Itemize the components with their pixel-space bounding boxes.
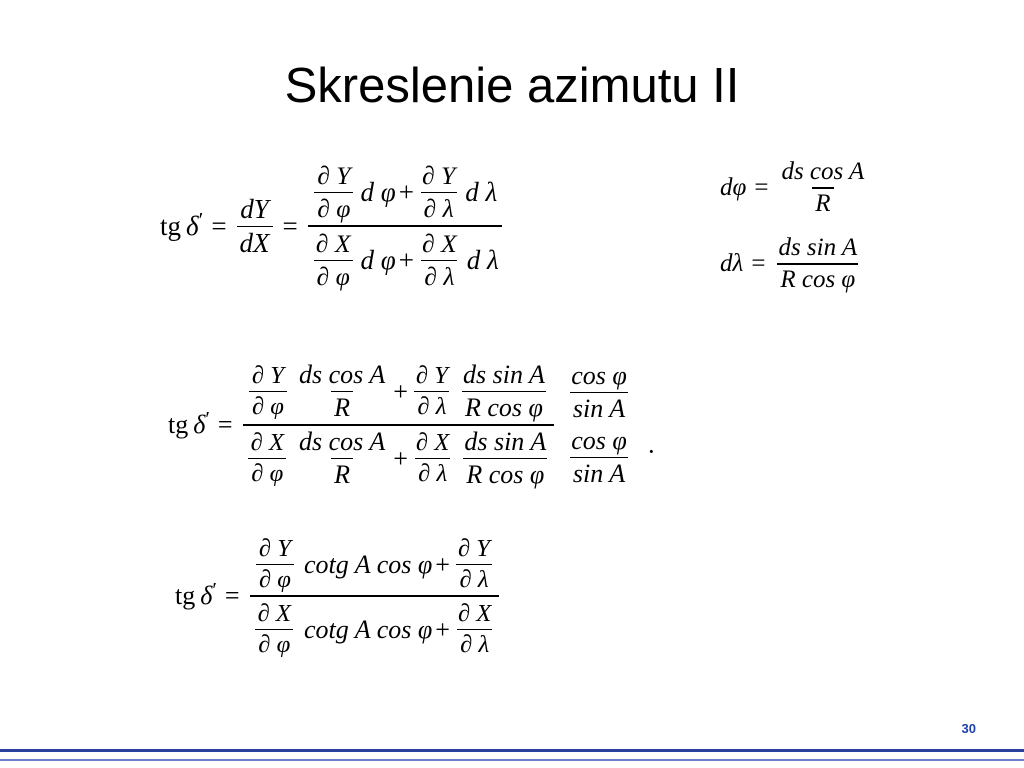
- eq1-equals: =: [211, 211, 226, 242]
- eq4-num-R: R: [331, 391, 353, 423]
- eq5-num-plus: +: [432, 550, 453, 580]
- eq5-den-partial-X-phi: ∂ X ∂ φ: [255, 600, 294, 659]
- eq4-num-partial-Y-phi-bottom: ∂ φ: [249, 391, 287, 421]
- eq4-den-partial-X-phi-top: ∂ X: [248, 429, 287, 458]
- eq5-num-partial-Y-lambda-bottom: ∂ λ: [456, 564, 491, 594]
- eq4-den-partial-X-lambda-top: ∂ X: [413, 429, 452, 458]
- eq4-tail-stack: cos φ sin A cos φ sin A: [563, 361, 635, 489]
- eq4-num-plus: +: [390, 377, 411, 407]
- eq2-denominator: R: [812, 187, 833, 218]
- eq5-num-partial-Y-phi-bottom: ∂ φ: [256, 564, 294, 594]
- eq5-den-partial-X-lambda-top: ∂ X: [455, 600, 494, 629]
- eq5-den-partial-X-phi-top: ∂ X: [255, 600, 294, 629]
- eq5-num-partial-Y-lambda-top: ∂ Y: [455, 535, 493, 564]
- eq5-den-partial-X-phi-bottom: ∂ φ: [255, 629, 293, 659]
- eq1-num-partial-Y-lambda: ∂ Y ∂ λ: [419, 161, 458, 224]
- eq4-num-Rcosphi: R cos φ: [462, 391, 546, 423]
- eq4-den-dssinA: ds sin A: [461, 427, 549, 458]
- eq1-delta-symbol: δ: [186, 211, 199, 242]
- eq1-num-partial-Y-phi: ∂ Y ∂ φ: [314, 161, 353, 224]
- eq1-equals-2: =: [283, 211, 298, 242]
- eq4-den-plus: +: [390, 444, 411, 474]
- eq1-dy-dx-fraction: dY dX: [237, 194, 273, 259]
- eq4-den-dscosA: ds cos A: [296, 427, 388, 458]
- eq3-numerator: ds sin A: [775, 234, 860, 263]
- eq5-prime: ′: [212, 579, 217, 603]
- eq4-num-dssinA-over-Rcosphi: ds sin A R cos φ: [460, 360, 548, 423]
- eq1-den-partial-X-lambda: ∂ X ∂ λ: [419, 229, 460, 292]
- page-title: Skreslenie azimutu II: [0, 58, 1024, 114]
- eq3-d: d: [720, 250, 733, 278]
- eq4-delta-symbol: δ: [193, 410, 205, 440]
- eq1-denominator: ∂ X ∂ φ d φ + ∂ X ∂ λ d λ: [308, 225, 502, 292]
- eq1-num-partial-Y-lambda-top: ∂ Y: [419, 161, 458, 192]
- eq2-d: d: [720, 174, 733, 202]
- equation-dphi: d φ = ds cos A R: [720, 158, 869, 218]
- eq1-den-partial-X-lambda-bottom: ∂ λ: [421, 260, 457, 292]
- eq4-num-partial-Y-lambda: ∂ Y ∂ λ: [413, 362, 451, 421]
- eq1-den-partial-X-phi: ∂ X ∂ φ: [313, 229, 354, 292]
- eq1-main-fraction: ∂ Y ∂ φ d φ + ∂ Y ∂ λ d λ: [308, 160, 502, 292]
- equation-tangent-delta-substituted: tg δ′ = ∂ Y ∂ φ ds cos A R +: [168, 360, 637, 490]
- eq2-fraction: ds cos A R: [778, 158, 867, 218]
- eq1-dx: dX: [237, 226, 273, 259]
- eq4-tail-numerator: cos φ sin A: [563, 361, 635, 425]
- eq1-num-partial-Y-phi-bottom: ∂ φ: [314, 192, 353, 224]
- eq1-num-partial-Y-lambda-bottom: ∂ λ: [421, 192, 457, 224]
- eq1-den-dphi: d φ: [361, 245, 396, 276]
- eq5-tg-label: tg: [175, 581, 195, 611]
- equation-group-differentials: d φ = ds cos A R d λ = ds sin A R cos φ: [720, 158, 869, 294]
- eq4-main-fraction: ∂ Y ∂ φ ds cos A R + ∂ Y ∂ λ d: [243, 360, 555, 490]
- eq4-den-partial-X-lambda-bottom: ∂ λ: [415, 458, 450, 488]
- eq4-den-dscosA-over-R: ds cos A R: [296, 427, 388, 490]
- eq4-num-dssinA: ds sin A: [460, 360, 548, 391]
- eq1-den-dlambda: d λ: [467, 245, 499, 276]
- eq4-equals: =: [218, 410, 233, 440]
- eq5-num-cotg-term: cotg A cos φ: [304, 550, 432, 580]
- eq5-num-partial-Y-phi: ∂ Y ∂ φ: [256, 535, 294, 594]
- eq4-den-partial-X-phi: ∂ X ∂ φ: [248, 429, 287, 488]
- eq2-equals: =: [754, 174, 768, 202]
- eq1-dy: dY: [237, 194, 272, 226]
- eq4-denominator: ∂ X ∂ φ ds cos A R + ∂ X ∂ λ d: [243, 424, 555, 490]
- eq1-den-partial-X-phi-bottom: ∂ φ: [314, 260, 353, 292]
- eq3-lambda: λ: [733, 250, 744, 278]
- eq3-denominator: R cos φ: [777, 263, 858, 294]
- footer-rule-primary: [0, 749, 1024, 752]
- eq4-num-partial-Y-lambda-bottom: ∂ λ: [414, 391, 449, 421]
- eq5-delta-symbol: δ: [200, 581, 212, 611]
- eq4-num-dscosA-over-R: ds cos A R: [296, 360, 388, 423]
- eq4-tail-denominator: cos φ sin A: [563, 425, 635, 489]
- eq4-prime: ′: [205, 408, 210, 432]
- eq1-den-plus: +: [396, 245, 417, 276]
- eq4-den-partial-X-phi-bottom: ∂ φ: [248, 458, 286, 488]
- eq5-num-partial-Y-phi-top: ∂ Y: [256, 535, 294, 564]
- eq5-den-partial-X-lambda: ∂ X ∂ λ: [455, 600, 494, 659]
- equation-tangent-delta-definition: tg δ′ = dY dX = ∂ Y ∂ φ d φ +: [160, 160, 504, 292]
- page-number: 30: [962, 721, 976, 736]
- eq3-equals: =: [751, 250, 765, 278]
- eq1-num-partial-Y-phi-top: ∂ Y: [314, 161, 353, 192]
- eq4-tail-bottom-sinA: sin A: [570, 457, 628, 489]
- footer-rule-secondary: [0, 759, 1024, 761]
- eq4-tail-bottom-fraction: cos φ sin A: [568, 426, 630, 489]
- eq4-multiplication-dot: ·: [647, 437, 656, 466]
- eq5-main-fraction: ∂ Y ∂ φ cotg A cos φ + ∂ Y ∂ λ ∂ X: [250, 533, 500, 659]
- eq1-prime: ′: [199, 208, 204, 233]
- eq5-equals: =: [225, 581, 240, 611]
- eq4-den-Rcosphi: R cos φ: [463, 458, 547, 490]
- eq1-num-dphi: d φ: [361, 177, 396, 208]
- eq4-num-dscosA: ds cos A: [296, 360, 388, 391]
- eq4-num-partial-Y-phi: ∂ Y ∂ φ: [249, 362, 287, 421]
- eq4-den-dssinA-over-Rcosphi: ds sin A R cos φ: [461, 427, 549, 490]
- eq1-num-plus: +: [396, 177, 417, 208]
- eq4-den-partial-X-lambda: ∂ X ∂ λ: [413, 429, 452, 488]
- eq5-numerator: ∂ Y ∂ φ cotg A cos φ + ∂ Y ∂ λ: [251, 533, 498, 595]
- eq4-num-partial-Y-phi-top: ∂ Y: [249, 362, 287, 391]
- equation-dlambda: d λ = ds sin A R cos φ: [720, 234, 869, 294]
- eq5-denominator: ∂ X ∂ φ cotg A cos φ + ∂ X ∂ λ: [250, 595, 500, 659]
- eq4-num-partial-Y-lambda-top: ∂ Y: [413, 362, 451, 391]
- equation-tangent-delta-simplified: tg δ′ = ∂ Y ∂ φ cotg A cos φ + ∂ Y ∂ λ: [175, 533, 501, 659]
- eq4-tail-top-fraction: cos φ sin A: [568, 361, 630, 424]
- eq2-numerator: ds cos A: [778, 158, 867, 187]
- eq4-den-R: R: [331, 458, 353, 490]
- eq2-phi: φ: [733, 174, 747, 202]
- eq4-tail-top-sinA: sin A: [570, 392, 628, 424]
- eq1-den-partial-X-phi-top: ∂ X: [313, 229, 354, 260]
- eq3-fraction: ds sin A R cos φ: [775, 234, 860, 294]
- eq4-multiplication-dot-wrapper: ·: [647, 437, 656, 467]
- eq1-numerator: ∂ Y ∂ φ d φ + ∂ Y ∂ λ d λ: [309, 160, 500, 225]
- eq5-den-partial-X-lambda-bottom: ∂ λ: [457, 629, 492, 659]
- eq5-den-plus: +: [432, 615, 453, 645]
- eq4-tail-top-cosphi: cos φ: [568, 361, 630, 392]
- eq1-tg-label: tg: [160, 211, 181, 242]
- eq5-den-cotg-term: cotg A cos φ: [304, 615, 432, 645]
- eq4-numerator: ∂ Y ∂ φ ds cos A R + ∂ Y ∂ λ d: [244, 360, 553, 424]
- eq4-tail-bottom-cosphi: cos φ: [568, 426, 630, 457]
- eq1-den-partial-X-lambda-top: ∂ X: [419, 229, 460, 260]
- eq5-num-partial-Y-lambda: ∂ Y ∂ λ: [455, 535, 493, 594]
- eq4-tg-label: tg: [168, 410, 188, 440]
- eq1-num-dlambda: d λ: [465, 177, 497, 208]
